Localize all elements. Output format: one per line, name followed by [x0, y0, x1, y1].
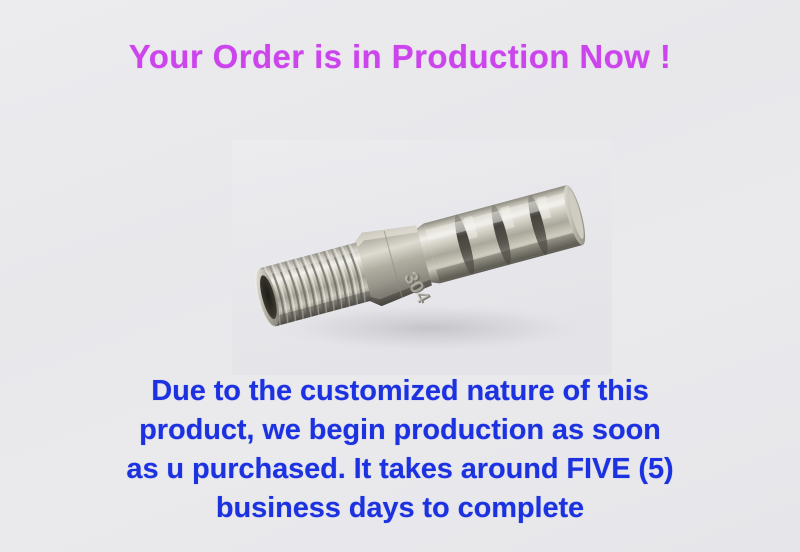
- promo-banner: Your Order is in Production Now !: [0, 0, 800, 552]
- product-photo: 304 304: [232, 140, 612, 375]
- notice-line-2: product, we begin production as soon: [0, 411, 800, 450]
- hose-barb-fitting-illustration: 304 304: [232, 140, 612, 375]
- page-title: Your Order is in Production Now !: [0, 38, 800, 76]
- notice-line-4: business days to complete: [0, 489, 800, 528]
- notice-line-3: as u purchased. It takes around FIVE (5): [0, 450, 800, 489]
- production-notice: Due to the customized nature of this pro…: [0, 372, 800, 528]
- notice-line-1: Due to the customized nature of this: [0, 372, 800, 411]
